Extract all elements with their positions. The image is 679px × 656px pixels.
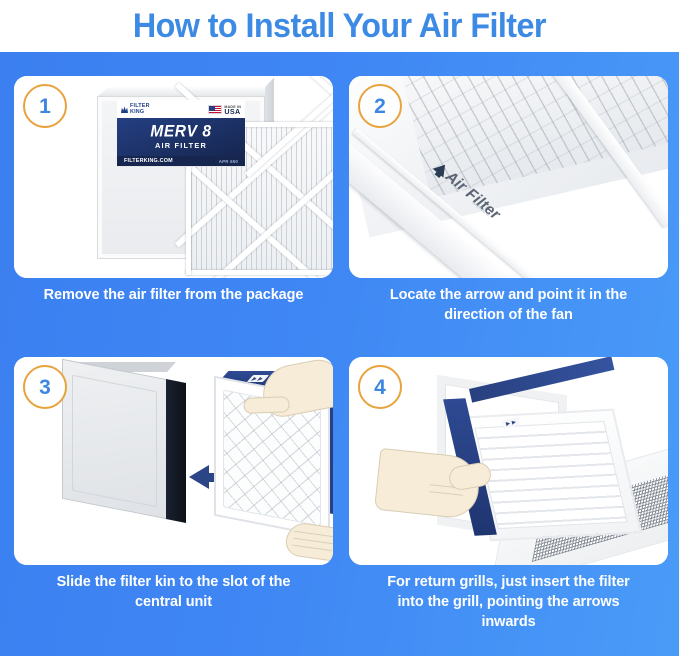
grill-louvers <box>474 421 627 529</box>
step-caption-2-line2: direction of the fan <box>349 305 668 325</box>
step-card-4: 4 For return grills, just insert the fil… <box>349 357 668 625</box>
step-card-3: 3 Slide the filter kin to the slot of th… <box>14 357 333 625</box>
step-number-3: 3 <box>39 377 51 398</box>
country-label: USA <box>224 110 241 115</box>
step-caption-3: Slide the filter kin to the slot of the … <box>14 572 333 612</box>
hand-lower <box>284 521 333 563</box>
made-in-usa-badge: MADE IN USA <box>208 105 241 114</box>
filter-king-logo: FILTER KING <box>121 104 150 115</box>
brand-text: FILTER KING <box>130 104 150 115</box>
apr-text: APR 650 <box>219 159 238 164</box>
website-text: FILTERKING.COM <box>124 158 173 164</box>
crown-icon <box>121 106 128 113</box>
page-title: How to Install Your Air Filter <box>133 7 546 46</box>
step-caption-3-line1: Slide the filter kin to the slot of the <box>14 572 333 592</box>
step-caption-3-line2: central unit <box>14 592 333 612</box>
step-number-badge-2: 2 <box>358 84 402 128</box>
step-number-badge-1: 1 <box>23 84 67 128</box>
steps-grid: FILTER KING MADE IN USA <box>0 52 679 656</box>
step-caption-4: For return grills, just insert the filte… <box>349 572 668 632</box>
step-caption-2: Locate the arrow and point it in the dir… <box>349 285 668 325</box>
header: How to Install Your Air Filter <box>0 0 679 52</box>
filter-product-label: FILTER KING MADE IN USA <box>117 100 245 167</box>
central-unit-slot <box>72 375 157 508</box>
label-main-block: MERV 8 AIR FILTER <box>117 118 245 156</box>
step-number-badge-4: 4 <box>358 365 402 409</box>
step-number-1: 1 <box>39 96 51 117</box>
central-unit-dark-edge <box>166 379 186 523</box>
step-number-badge-3: 3 <box>23 365 67 409</box>
label-top-row: FILTER KING MADE IN USA <box>121 103 241 116</box>
step-caption-4-line3: inwards <box>349 612 668 632</box>
infographic-page: How to Install Your Air Filter <box>0 0 679 656</box>
step-number-2: 2 <box>374 96 386 117</box>
step-caption-1-text: Remove the air filter from the package <box>14 285 333 305</box>
made-in-usa-text: MADE IN USA <box>224 105 241 114</box>
step-caption-4-line1: For return grills, just insert the filte… <box>349 572 668 592</box>
step-caption-2-line1: Locate the arrow and point it in the <box>349 285 668 305</box>
label-footer: FILTERKING.COM APR 650 <box>117 156 245 166</box>
steps-board: FILTER KING MADE IN USA <box>0 52 679 656</box>
usa-flag-icon <box>208 105 222 114</box>
step-caption-1: Remove the air filter from the package <box>14 285 333 305</box>
merv-rating: MERV 8 <box>150 123 211 140</box>
step-number-4: 4 <box>374 377 386 398</box>
step-card-2: Air Filter AIRFLOW 2 Locate the arrow an… <box>349 76 668 344</box>
product-type: AIR FILTER <box>155 141 207 150</box>
step-card-1: FILTER KING MADE IN USA <box>14 76 333 344</box>
step-caption-4-line2: into the grill, pointing the arrows <box>349 592 668 612</box>
brand-line-2: KING <box>130 110 150 116</box>
